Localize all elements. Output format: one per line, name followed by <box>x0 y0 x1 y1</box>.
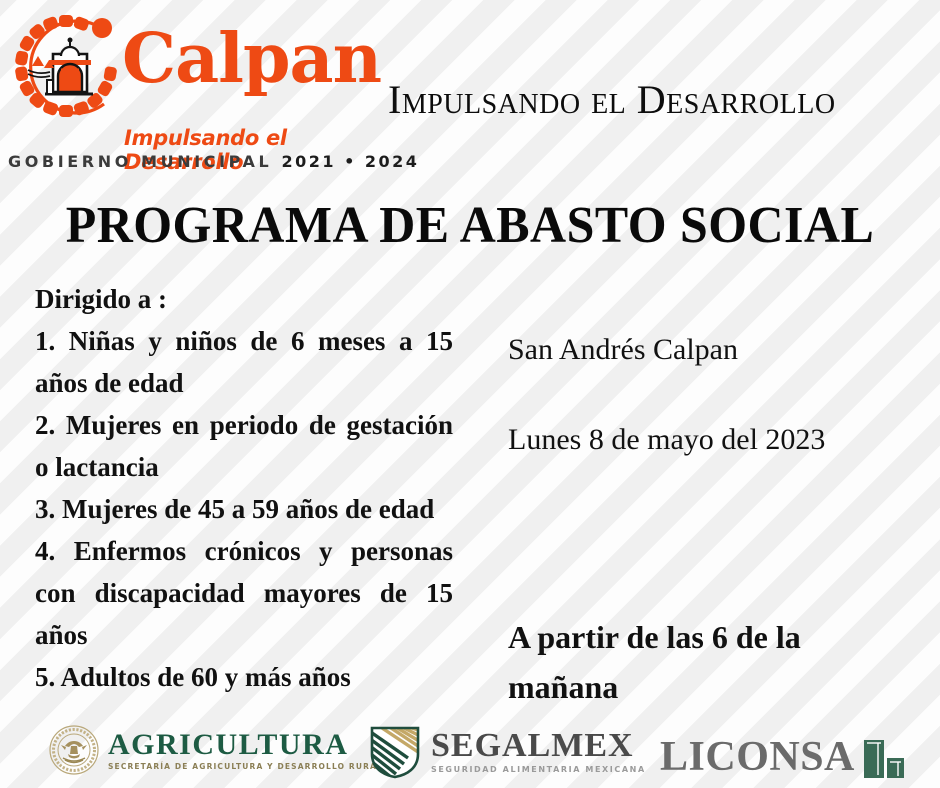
logo-segalmex: SEGALMEX SEGURIDAD ALIMENTARIA MEXICANA <box>368 724 646 780</box>
logo-agricultura: AGRICULTURA SECRETARÍA DE AGRICULTURA Y … <box>48 724 383 776</box>
segalmex-text-block: SEGALMEX SEGURIDAD ALIMENTARIA MEXICANA <box>431 728 646 776</box>
calpan-municipal-crest-icon <box>8 8 124 124</box>
list-item: 4. Enfermos crónicos y personas con disc… <box>35 530 453 656</box>
calpan-brand-lockup: Calpan Impulsando el Desarrollo GOBIERNO… <box>4 4 354 170</box>
eligibility-column: Dirigido a : 1. Niñas y niños de 6 meses… <box>35 278 453 698</box>
list-item: 5. Adultos de 60 y más años <box>35 656 453 698</box>
page-title: PROGRAMA DE ABASTO SOCIAL <box>19 196 921 256</box>
segalmex-subtitle: SEGURIDAD ALIMENTARIA MEXICANA <box>431 764 646 776</box>
list-item: 1. Niñas y niños de 6 meses a 15 años de… <box>35 320 453 404</box>
footer-logos: AGRICULTURA SECRETARÍA DE AGRICULTURA Y … <box>0 718 940 788</box>
event-location: San Andrés Calpan <box>508 330 918 370</box>
segalmex-shield-icon <box>368 724 422 780</box>
liconsa-block-mark-icon <box>864 740 904 778</box>
agricultura-subtitle: SECRETARÍA DE AGRICULTURA Y DESARROLLO R… <box>108 761 383 772</box>
page-header: Calpan Impulsando el Desarrollo GOBIERNO… <box>0 0 940 175</box>
agricultura-text-block: AGRICULTURA SECRETARÍA DE AGRICULTURA Y … <box>108 729 383 772</box>
list-item: 2. Mujeres en periodo de gestación o lac… <box>35 404 453 488</box>
government-label: GOBIERNO MUNICIPAL <box>8 152 281 171</box>
government-period-line: GOBIERNO MUNICIPAL 2021 • 2024 <box>8 152 419 171</box>
list-item: 3. Mujeres de 45 a 59 años de edad <box>35 488 453 530</box>
agricultura-name: AGRICULTURA <box>108 729 383 761</box>
liconsa-name: LICONSA <box>660 736 855 778</box>
segalmex-name: SEGALMEX <box>431 728 646 764</box>
event-details-column: San Andrés Calpan Lunes 8 de mayo del 20… <box>508 330 918 460</box>
government-years: 2021 • 2024 <box>281 152 419 171</box>
eligibility-lead-in: Dirigido a : <box>35 278 453 320</box>
event-date: Lunes 8 de mayo del 2023 <box>508 420 918 460</box>
event-time: A partir de las 6 de la mañana <box>508 612 908 712</box>
header-slogan: Impulsando el Desarrollo <box>388 78 836 122</box>
mexican-national-seal-icon <box>48 724 100 776</box>
logo-liconsa: LICONSA <box>660 736 904 778</box>
calpan-wordmark: Calpan <box>122 22 381 96</box>
